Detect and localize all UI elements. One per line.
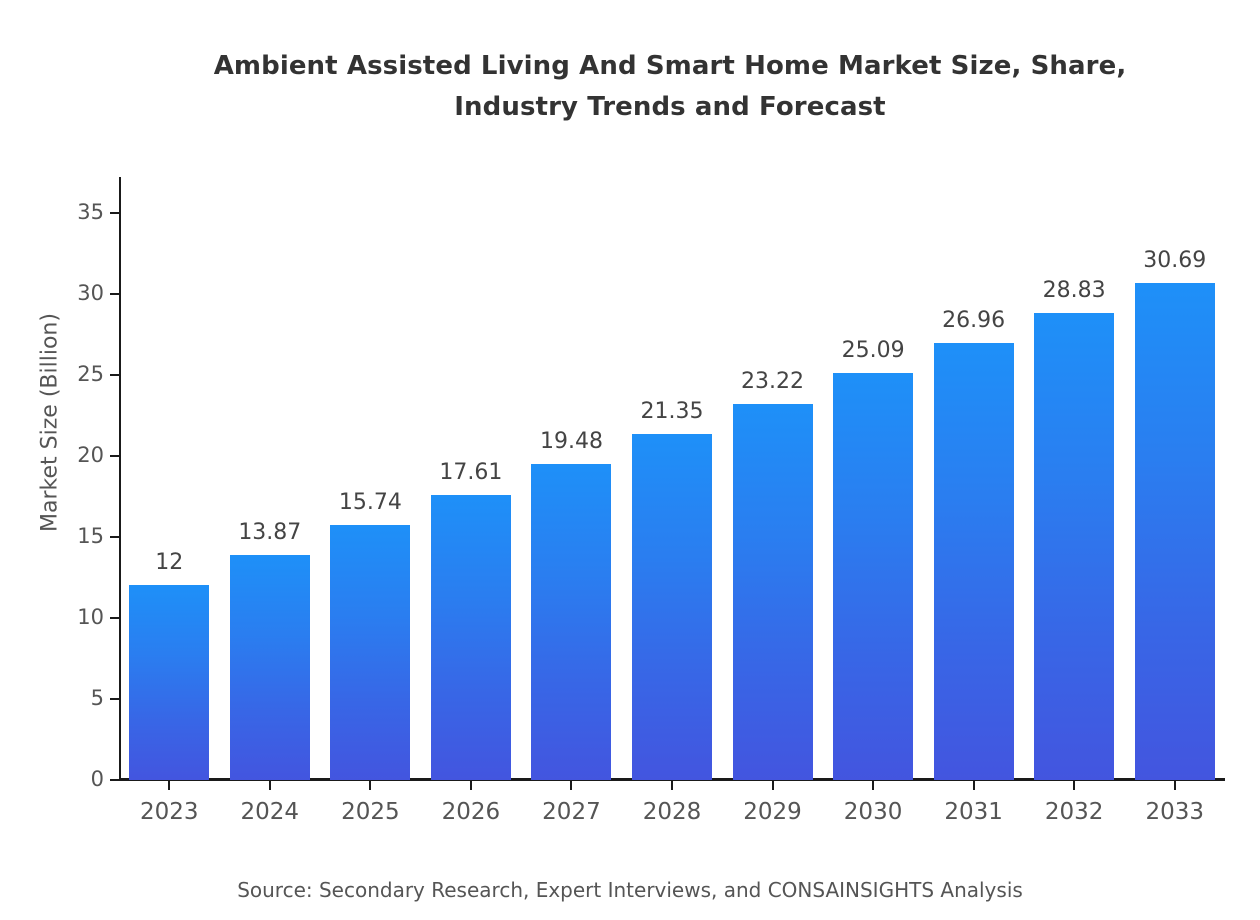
- y-tick-label: 15: [44, 526, 104, 547]
- y-tick-mark: [110, 698, 119, 700]
- x-tick-mark: [1174, 780, 1176, 790]
- y-tick-mark: [110, 779, 119, 781]
- x-tick-mark: [1073, 780, 1075, 790]
- y-tick-label: 35: [44, 202, 104, 223]
- y-tick-label: 30: [44, 283, 104, 304]
- bar[interactable]: [733, 404, 813, 780]
- bar-value-label: 21.35: [602, 401, 742, 423]
- y-tick-mark: [110, 293, 119, 295]
- y-axis-title: Market Size (Billion): [38, 293, 63, 553]
- bar[interactable]: [129, 585, 209, 780]
- bar-value-label: 28.83: [1004, 280, 1144, 302]
- y-tick-mark: [110, 536, 119, 538]
- x-tick-mark: [168, 780, 170, 790]
- y-tick-mark: [110, 455, 119, 457]
- x-tick-mark: [872, 780, 874, 790]
- bar-value-label: 17.61: [401, 462, 541, 484]
- y-tick-label: 25: [44, 364, 104, 385]
- x-tick-mark: [570, 780, 572, 790]
- bar[interactable]: [531, 464, 611, 780]
- plot-area: 05101520253035 2023202420252026202720282…: [119, 177, 1225, 780]
- y-tick-mark: [110, 212, 119, 214]
- bar-value-label: 13.87: [200, 522, 340, 544]
- x-tick-mark: [470, 780, 472, 790]
- bar[interactable]: [632, 434, 712, 780]
- bar-value-label: 15.74: [300, 492, 440, 514]
- bar[interactable]: [1135, 283, 1215, 780]
- x-tick-mark: [973, 780, 975, 790]
- bar[interactable]: [833, 373, 913, 780]
- bar[interactable]: [230, 555, 310, 780]
- x-tick-mark: [369, 780, 371, 790]
- y-tick-label: 20: [44, 445, 104, 466]
- y-tick-label: 0: [44, 769, 104, 790]
- bar-value-label: 12: [99, 552, 239, 574]
- bar[interactable]: [934, 343, 1014, 780]
- y-tick-mark: [110, 617, 119, 619]
- y-axis-line: [119, 177, 121, 780]
- y-tick-label: 5: [44, 688, 104, 709]
- y-tick-mark: [110, 374, 119, 376]
- x-tick-mark: [269, 780, 271, 790]
- chart-title: Ambient Assisted Living And Smart Home M…: [130, 46, 1210, 128]
- bar-chart: Ambient Assisted Living And Smart Home M…: [0, 0, 1260, 920]
- bar[interactable]: [330, 525, 410, 780]
- bar-value-label: 26.96: [904, 310, 1044, 332]
- bar-value-label: 19.48: [501, 431, 641, 453]
- bar-value-label: 25.09: [803, 340, 943, 362]
- x-tick-mark: [772, 780, 774, 790]
- bar-value-label: 30.69: [1105, 250, 1245, 272]
- x-tick-label: 2033: [1115, 799, 1235, 825]
- bar[interactable]: [1034, 313, 1114, 780]
- source-note: Source: Secondary Research, Expert Inter…: [0, 878, 1260, 902]
- x-tick-mark: [671, 780, 673, 790]
- bar[interactable]: [431, 495, 511, 780]
- bar-value-label: 23.22: [703, 371, 843, 393]
- y-tick-label: 10: [44, 607, 104, 628]
